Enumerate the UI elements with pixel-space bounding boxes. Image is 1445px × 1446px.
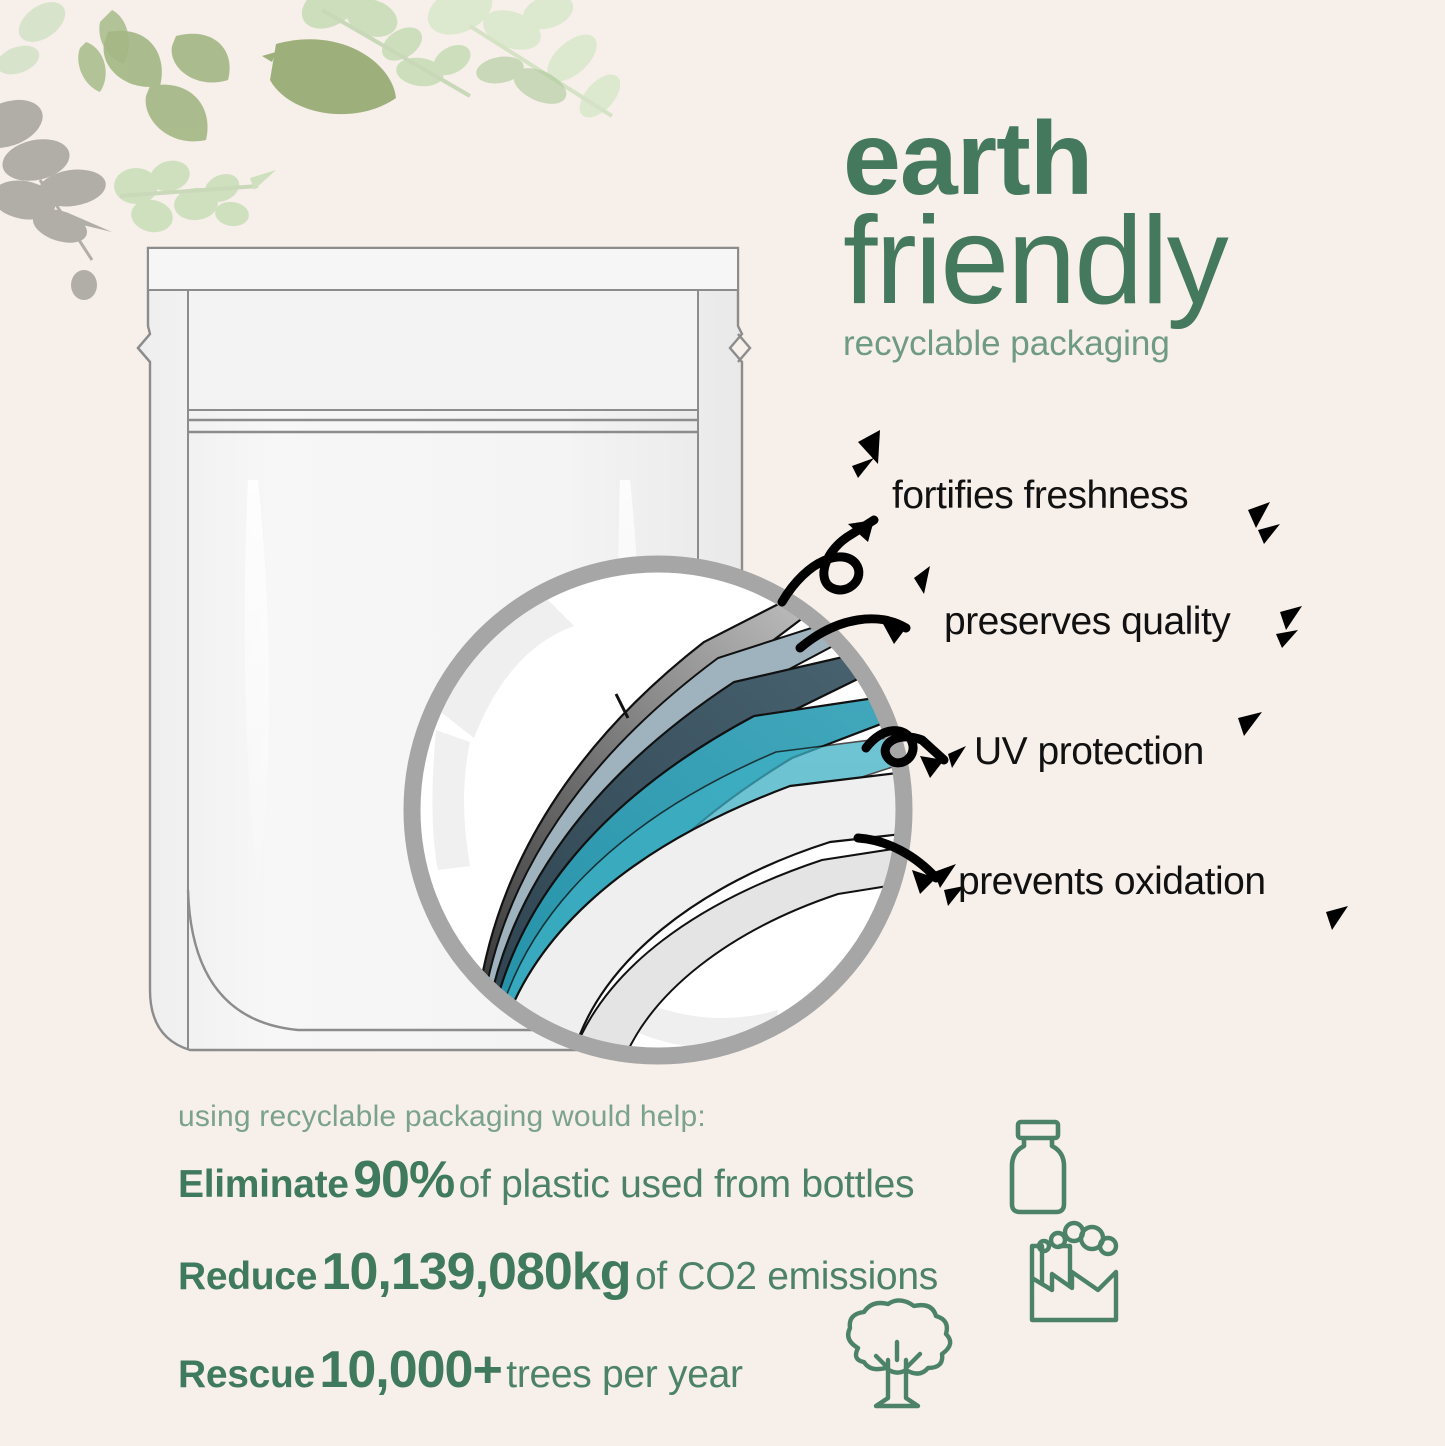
infographic-canvas: earth friendly recyclable packaging fort… [0, 0, 1445, 1446]
stat-row-eliminate: Eliminate 90% of plastic used from bottl… [178, 1154, 1078, 1206]
stat-rest: of CO2 emissions [635, 1255, 938, 1298]
stat-row-reduce: Reduce 10,139,080kg of CO2 emissions [178, 1246, 1078, 1298]
headline-block: earth friendly recyclable packaging [843, 112, 1423, 364]
page-subtitle: recyclable packaging [843, 324, 1423, 364]
tree-icon [832, 1296, 962, 1416]
feature-label-preserves-quality: preserves quality [944, 600, 1230, 644]
stat-rest: trees per year [506, 1353, 742, 1396]
factory-icon [1022, 1216, 1132, 1326]
stat-verb: Rescue [178, 1353, 315, 1396]
page-title-friendly: friendly [843, 204, 1423, 318]
feature-label-uv-protection: UV protection [974, 730, 1204, 774]
stat-rest: of plastic used from bottles [459, 1163, 915, 1206]
stat-verb: Eliminate [178, 1163, 349, 1206]
stat-verb: Reduce [178, 1255, 317, 1298]
stat-number: 10,000+ [319, 1341, 501, 1399]
feature-label-prevents-oxidation: prevents oxidation [958, 860, 1266, 904]
stat-number: 90% [353, 1151, 454, 1209]
feature-label-fortifies-freshness: fortifies freshness [892, 474, 1188, 518]
bottle-icon [1000, 1118, 1080, 1218]
stat-number: 10,139,080kg [322, 1243, 631, 1301]
stats-intro-text: using recyclable packaging would help: [178, 1100, 1078, 1134]
